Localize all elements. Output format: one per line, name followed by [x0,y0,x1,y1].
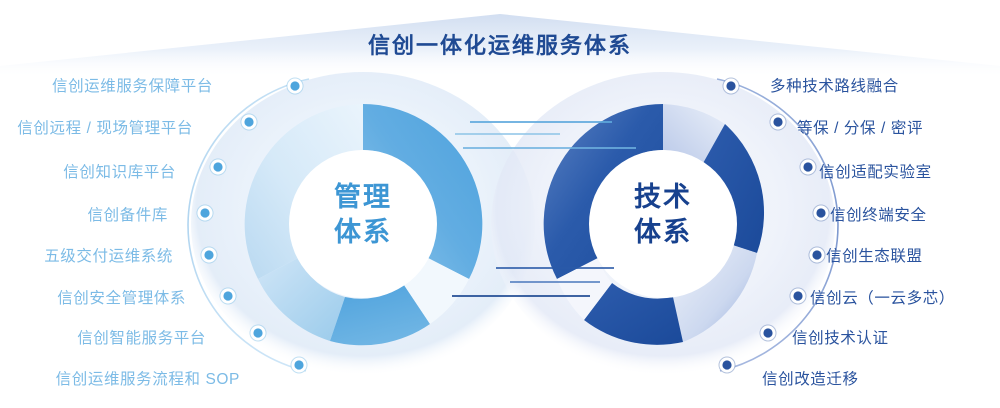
left-node-dot-7[interactable] [253,328,262,337]
left-node-dot-4[interactable] [200,208,209,217]
right-node-dot-1[interactable] [726,81,735,90]
left-node-dot-1[interactable] [290,81,299,90]
right-item-label-6[interactable]: 信创云（一云多芯） [810,286,955,308]
left-node-dot-8[interactable] [294,360,303,369]
right-item-label-7[interactable]: 信创技术认证 [792,326,889,348]
ring-label-technology: 技术 体系 [568,180,758,249]
right-node-dot-2[interactable] [773,117,782,126]
right-item-label-2[interactable]: 等保 / 分保 / 密评 [797,116,923,138]
diagram-canvas: 信创一体化运维服务体系 管理 体系 技术 体系 信创运维服务保障平台信创远程 /… [0,0,1000,408]
left-item-label-5[interactable]: 五级交付运维系统 [0,244,173,266]
left-node-dot-3[interactable] [213,162,222,171]
left-item-label-4[interactable]: 信创备件库 [0,203,168,225]
right-item-label-8[interactable]: 信创改造迁移 [762,367,859,389]
left-item-label-3[interactable]: 信创知识库平台 [0,160,176,182]
left-node-dot-6[interactable] [223,291,232,300]
right-node-dot-8[interactable] [722,360,731,369]
page-title: 信创一体化运维服务体系 [0,28,1000,60]
left-item-label-8[interactable]: 信创运维服务流程和 SOP [0,367,240,389]
right-item-label-1[interactable]: 多种技术路线融合 [770,74,899,96]
left-node-dot-2[interactable] [244,117,253,126]
right-node-dot-3[interactable] [803,162,812,171]
right-node-dot-5[interactable] [812,250,821,259]
right-node-dot-7[interactable] [763,328,772,337]
left-item-label-2[interactable]: 信创远程 / 现场管理平台 [0,116,193,138]
left-node-dot-5[interactable] [204,250,213,259]
right-item-label-3[interactable]: 信创适配实验室 [819,160,932,182]
right-node-dot-6[interactable] [793,291,802,300]
right-node-dot-4[interactable] [816,208,825,217]
right-item-label-5[interactable]: 信创生态联盟 [826,244,923,266]
left-item-label-6[interactable]: 信创安全管理体系 [0,286,186,308]
ring-label-management: 管理 体系 [268,180,458,249]
right-item-label-4[interactable]: 信创终端安全 [830,203,927,225]
left-item-label-7[interactable]: 信创智能服务平台 [0,326,206,348]
left-item-label-1[interactable]: 信创运维服务保障平台 [0,74,213,96]
